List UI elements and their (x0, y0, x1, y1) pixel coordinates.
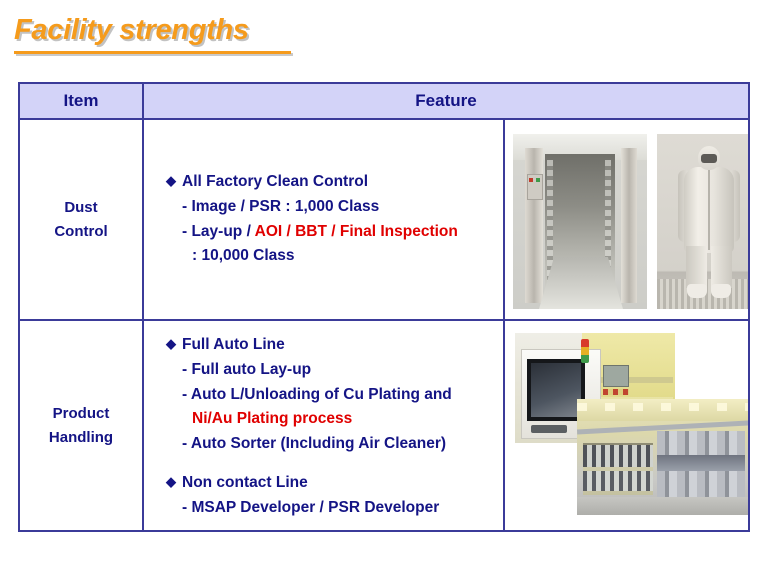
feature-line: Ni/Au Plating process (166, 407, 503, 432)
air-shower-tunnel-photo (513, 134, 647, 309)
row-feature-cell-dust-control: ◆All Factory Clean Control - Image / PSR… (144, 120, 748, 319)
feature-line: - Auto Sorter (Including Air Cleaner) (166, 432, 503, 457)
row-item-cell-dust-control: Dust Control (20, 120, 144, 319)
feature-line-text: - MSAP Developer / PSR Developer (182, 499, 439, 516)
feature-text-product-handling: ◆Full Auto Line - Full auto Lay-up - Aut… (144, 321, 505, 530)
facility-strengths-table: Item Feature Dust Control ◆All Factory C… (18, 82, 750, 532)
feature-photos-product-handling (505, 321, 748, 530)
feature-line-text: Full Auto Line (182, 336, 285, 353)
row-item-label-line1: Product (49, 402, 113, 425)
feature-photos-dust-control (505, 120, 748, 319)
title-underline (14, 51, 291, 54)
feature-line: ◆Non contact Line (166, 471, 503, 496)
page-title: Facility strengths (14, 14, 249, 47)
column-header-feature-label: Feature (415, 91, 476, 111)
feature-line-text: - Auto L/Unloading of Cu Plating and (182, 386, 452, 403)
feature-line-text: - Image / PSR : 1,000 Class (182, 198, 379, 215)
feature-line: ◆All Factory Clean Control (166, 170, 503, 195)
row-item-label-line2: Control (54, 220, 107, 243)
feature-line-text: - Full auto Lay-up (182, 361, 311, 378)
feature-line: ◆Full Auto Line (166, 333, 503, 358)
feature-line-spacer (166, 457, 503, 471)
feature-line: - Image / PSR : 1,000 Class (166, 195, 503, 220)
diamond-bullet-icon: ◆ (166, 474, 176, 489)
diamond-bullet-icon: ◆ (166, 336, 176, 351)
feature-line-text: - Lay-up / (182, 223, 255, 240)
feature-line-text: Non contact Line (182, 474, 308, 491)
feature-line-text: - Auto Sorter (Including Air Cleaner) (182, 435, 446, 452)
feature-line: - Lay-up / AOI / BBT / Final Inspection (166, 220, 503, 245)
table-row: Dust Control ◆All Factory Clean Control … (20, 120, 748, 321)
cleanroom-gown-person-photo (657, 134, 748, 309)
row-item-cell-product-handling: Product Handling (20, 321, 144, 530)
column-header-item-label: Item (64, 91, 99, 111)
feature-line-text-highlight: Ni/Au Plating process (192, 410, 352, 427)
row-feature-cell-product-handling: ◆Full Auto Line - Full auto Lay-up - Aut… (144, 321, 748, 530)
column-header-feature: Feature (144, 84, 748, 118)
feature-line: : 10,000 Class (166, 244, 503, 269)
row-item-label-line1: Dust (54, 196, 107, 219)
feature-text-dust-control: ◆All Factory Clean Control - Image / PSR… (144, 120, 505, 319)
feature-line-text: : 10,000 Class (192, 247, 295, 264)
row-item-label-dust-control: Dust Control (54, 196, 107, 243)
feature-line: - MSAP Developer / PSR Developer (166, 496, 503, 521)
feature-line-text: All Factory Clean Control (182, 173, 368, 190)
row-item-label-product-handling: Product Handling (49, 402, 113, 449)
diamond-bullet-icon: ◆ (166, 173, 176, 188)
feature-line-text-highlight: AOI / BBT / Final Inspection (255, 223, 458, 240)
feature-line: - Full auto Lay-up (166, 358, 503, 383)
row-item-label-line2: Handling (49, 426, 113, 449)
feature-line: - Auto L/Unloading of Cu Plating and (166, 383, 503, 408)
plating-line-photo (577, 399, 748, 515)
table-header-row: Item Feature (20, 84, 748, 120)
column-header-item: Item (20, 84, 144, 118)
table-row: Product Handling ◆Full Auto Line - Full … (20, 321, 748, 530)
